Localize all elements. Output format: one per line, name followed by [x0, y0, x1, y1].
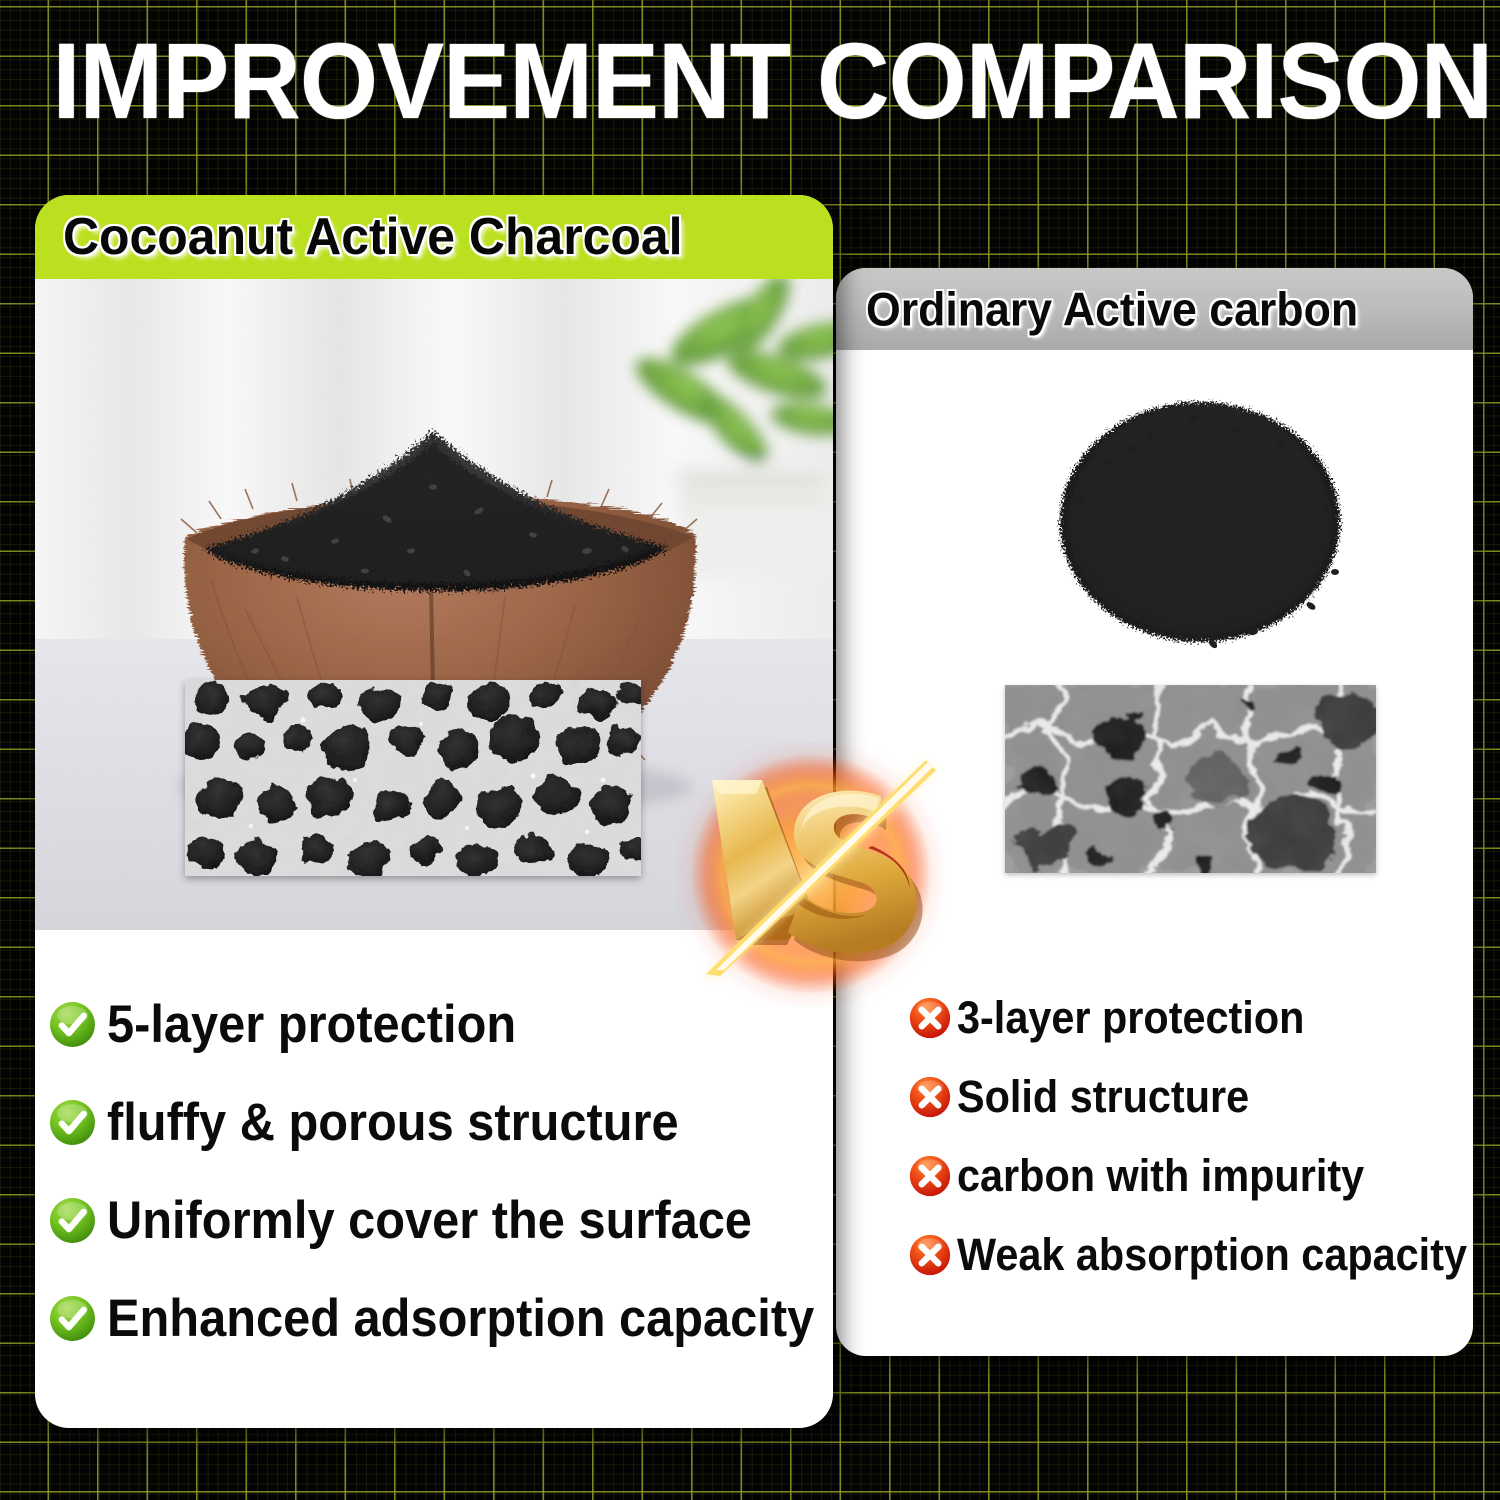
green-check-icon [48, 1196, 97, 1245]
list-item-label: Uniformly cover the surface [107, 1190, 752, 1251]
green-check-icon [48, 1000, 97, 1049]
list-item: fluffy & porous structure [48, 1073, 818, 1171]
list-item-label: fluffy & porous structure [107, 1092, 679, 1153]
ordinary-carbon-granules-image [985, 382, 1415, 672]
ordinary-feature-list: 3-layer protection Solid structure carbo… [908, 978, 1468, 1294]
list-item: 5-layer protection [48, 975, 818, 1073]
list-item-label: Solid structure [957, 1071, 1249, 1123]
coconut-charcoal-micrograph [185, 680, 641, 876]
list-item: 3-layer protection [908, 978, 1468, 1057]
page-title: IMPROVEMENT COMPARISON [53, 24, 1448, 137]
red-x-icon [908, 1233, 952, 1277]
green-check-icon [48, 1294, 97, 1343]
coconut-feature-list: 5-layer protection fluffy & porous struc… [48, 975, 818, 1367]
list-item-label: 3-layer protection [957, 992, 1304, 1044]
list-item: Weak absorption capacity [908, 1215, 1468, 1294]
list-item-label: Weak absorption capacity [957, 1229, 1467, 1281]
ordinary-carbon-micrograph [1005, 685, 1376, 873]
red-x-icon [908, 1154, 952, 1198]
list-item: Uniformly cover the surface [48, 1171, 818, 1269]
red-x-icon [908, 1075, 952, 1119]
red-x-icon [908, 996, 952, 1040]
ordinary-carbon-header: Ordinary Active carbon [836, 268, 1473, 350]
list-item: Enhanced adsorption capacity [48, 1269, 818, 1367]
list-item: carbon with impurity [908, 1136, 1468, 1215]
coconut-charcoal-header: Cocoanut Active Charcoal [35, 195, 833, 279]
list-item-label: 5-layer protection [107, 994, 516, 1055]
list-item: Solid structure [908, 1057, 1468, 1136]
ordinary-carbon-title: Ordinary Active carbon [866, 282, 1358, 337]
list-item-label: Enhanced adsorption capacity [107, 1288, 814, 1349]
list-item-label: carbon with impurity [957, 1150, 1364, 1202]
green-check-icon [48, 1098, 97, 1147]
coconut-charcoal-title: Cocoanut Active Charcoal [63, 207, 683, 267]
